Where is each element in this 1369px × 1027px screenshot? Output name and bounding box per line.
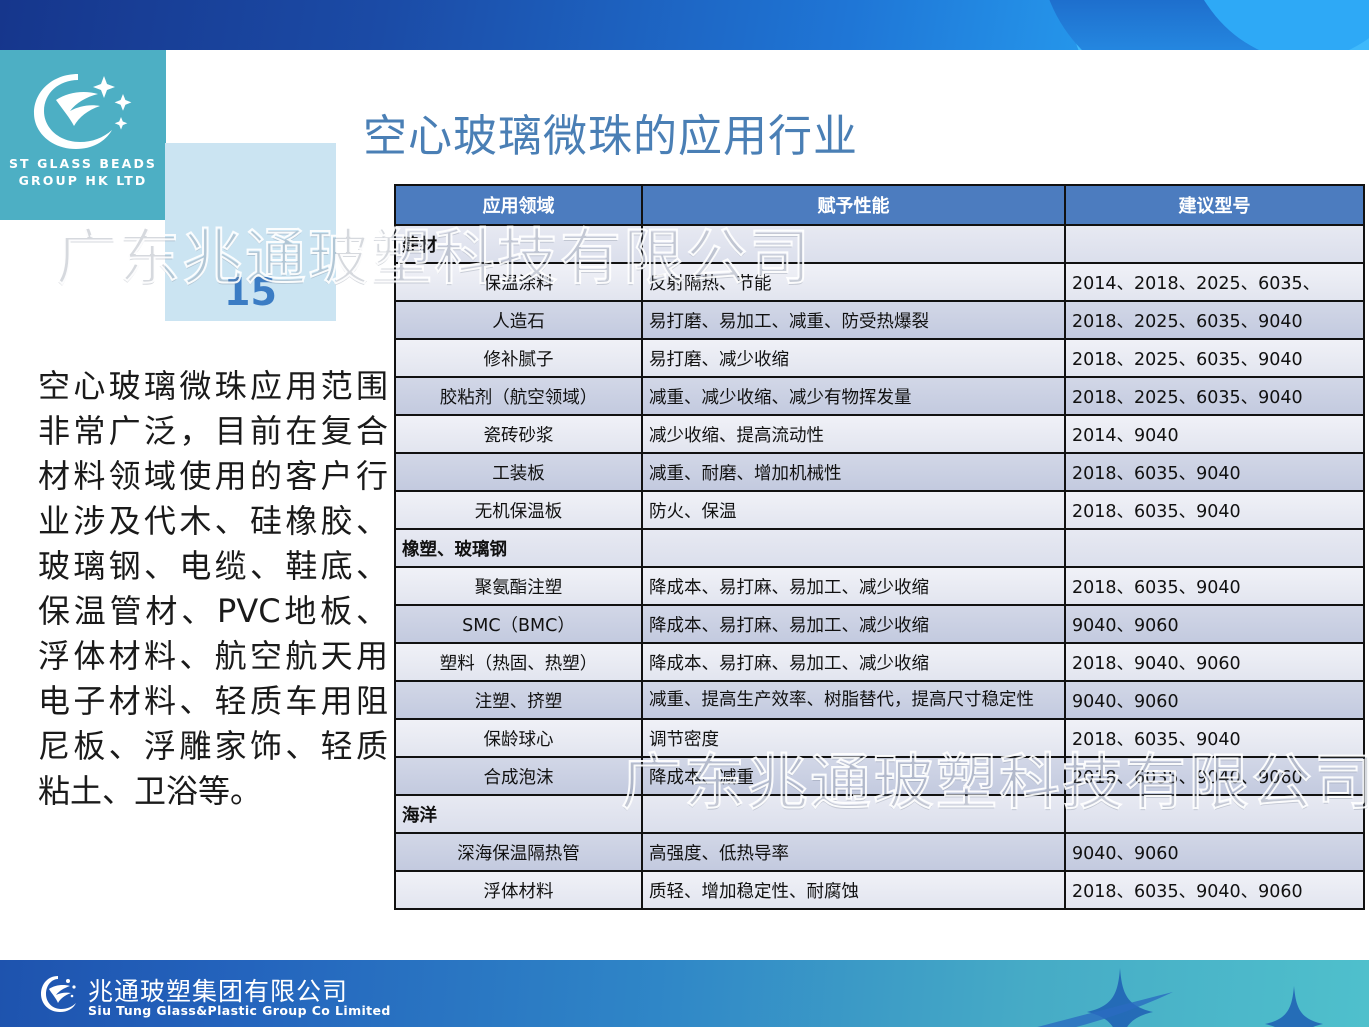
- cell-application-field: 浮体材料: [395, 871, 642, 909]
- group-label: 建材: [395, 225, 642, 263]
- cell-performance: 降成本、易打麻、易加工、减少收缩: [642, 605, 1065, 643]
- header-recommended-model: 建议型号: [1065, 185, 1364, 225]
- table-row: 浮体材料质轻、增加稳定性、耐腐蚀2018、6035、9040、9060: [395, 871, 1364, 909]
- footer-swoosh-icon: [955, 990, 1175, 1027]
- cell-recommended-model: 2018、6035、9040: [1065, 453, 1364, 491]
- cell-performance: 减少收缩、提高流动性: [642, 415, 1065, 453]
- table-group-row: 建材: [395, 225, 1364, 263]
- applications-table: 应用领域 赋予性能 建议型号 建材保温涂料反射隔热、节能2014、2018、20…: [394, 184, 1365, 910]
- cell-recommended-model: 9040、9060: [1065, 681, 1364, 719]
- cell-recommended-model: 2018、6035、9040: [1065, 491, 1364, 529]
- table-row: 深海保温隔热管高强度、低热导率9040、9060: [395, 833, 1364, 871]
- cell-application-field: 保温涂料: [395, 263, 642, 301]
- cell-recommended-model: 2018、6035、9040: [1065, 719, 1364, 757]
- cell-recommended-model: 2018、6035、9040: [1065, 567, 1364, 605]
- header-performance: 赋予性能: [642, 185, 1065, 225]
- cell-application-field: 聚氨酯注塑: [395, 567, 642, 605]
- table-row: SMC（BMC）降成本、易打麻、易加工、减少收缩9040、9060: [395, 605, 1364, 643]
- group-performance-cell: [642, 795, 1065, 833]
- cell-application-field: 胶粘剂（航空领域）: [395, 377, 642, 415]
- cell-recommended-model: 9040、9060: [1065, 833, 1364, 871]
- cell-performance: 调节密度: [642, 719, 1065, 757]
- group-performance-cell: [642, 529, 1065, 567]
- group-performance-cell: [642, 225, 1065, 263]
- table-row: 塑料（热固、热塑）降成本、易打麻、易加工、减少收缩2018、9040、9060: [395, 643, 1364, 681]
- cell-performance: 反射隔热、节能: [642, 263, 1065, 301]
- table-group-row: 橡塑、玻璃钢: [395, 529, 1364, 567]
- header-application-field: 应用领域: [395, 185, 642, 225]
- brand-logo-text: ST GLASS BEADS GROUP HK LTD: [0, 155, 166, 189]
- cell-application-field: 人造石: [395, 301, 642, 339]
- footer-sparkle-icon: [1255, 986, 1333, 1027]
- cell-performance: 降成本、易打麻、易加工、减少收缩: [642, 643, 1065, 681]
- group-model-cell: [1065, 529, 1364, 567]
- cell-performance: 防火、保温: [642, 491, 1065, 529]
- cell-recommended-model: 9040、9060: [1065, 605, 1364, 643]
- table-row: 修补腻子易打磨、减少收缩2018、2025、6035、9040: [395, 339, 1364, 377]
- cell-performance: 质轻、增加稳定性、耐腐蚀: [642, 871, 1065, 909]
- table-header-row: 应用领域 赋予性能 建议型号: [395, 185, 1364, 225]
- cell-performance: 减重、耐磨、增加机械性: [642, 453, 1065, 491]
- table-body: 建材保温涂料反射隔热、节能2014、2018、2025、6035、人造石易打磨、…: [395, 225, 1364, 909]
- brand-logo-line2: GROUP HK LTD: [0, 172, 166, 189]
- table-row: 工装板减重、耐磨、增加机械性2018、6035、9040: [395, 453, 1364, 491]
- footer-bar: 兆通玻塑集团有限公司 Siu Tung Glass&Plastic Group …: [0, 960, 1369, 1027]
- table-row: 瓷砖砂浆减少收缩、提高流动性2014、9040: [395, 415, 1364, 453]
- brand-logo-line1: ST GLASS BEADS: [0, 155, 166, 172]
- cell-recommended-model: 2018、2025、6035、9040: [1065, 301, 1364, 339]
- body-paragraph: 空心玻璃微珠应用范围非常广泛，目前在复合材料领域使用的客户行业涉及代木、硅橡胶、…: [38, 364, 388, 814]
- table-row: 注塑、挤塑减重、提高生产效率、树脂替代，提高尺寸稳定性9040、9060: [395, 681, 1364, 719]
- cell-performance: 减重、提高生产效率、树脂替代，提高尺寸稳定性: [642, 681, 1065, 719]
- cell-performance: 高强度、低热导率: [642, 833, 1065, 871]
- group-model-cell: [1065, 225, 1364, 263]
- cell-performance: 易打磨、减少收缩: [642, 339, 1065, 377]
- page-title: 空心玻璃微珠的应用行业: [363, 100, 1003, 164]
- table-row: 保龄球心调节密度2018、6035、9040: [395, 719, 1364, 757]
- cell-performance: 降成本、易打麻、易加工、减少收缩: [642, 567, 1065, 605]
- cell-application-field: 深海保温隔热管: [395, 833, 642, 871]
- cell-recommended-model: 2018、6035、9040、9060: [1065, 871, 1364, 909]
- cell-recommended-model: 2014、2018、2025、6035、: [1065, 263, 1364, 301]
- cell-recommended-model: 2018、2025、6035、9040: [1065, 377, 1364, 415]
- cell-performance: 减重、减少收缩、减少有物挥发量: [642, 377, 1065, 415]
- group-label: 橡塑、玻璃钢: [395, 529, 642, 567]
- cell-application-field: 合成泡沫: [395, 757, 642, 795]
- cell-application-field: 修补腻子: [395, 339, 642, 377]
- cell-application-field: 塑料（热固、热塑）: [395, 643, 642, 681]
- cell-application-field: 工装板: [395, 453, 642, 491]
- cell-recommended-model: 2014、9040: [1065, 415, 1364, 453]
- table-row: 保温涂料反射隔热、节能2014、2018、2025、6035、: [395, 263, 1364, 301]
- cell-application-field: 无机保温板: [395, 491, 642, 529]
- crescent-sparkle-logo-icon: [26, 70, 141, 152]
- group-label: 海洋: [395, 795, 642, 833]
- table-row: 聚氨酯注塑降成本、易打麻、易加工、减少收缩2018、6035、9040: [395, 567, 1364, 605]
- footer-crescent-sparkle-logo-icon: [38, 974, 80, 1014]
- cell-application-field: 瓷砖砂浆: [395, 415, 642, 453]
- table-row: 人造石易打磨、易加工、减重、防受热爆裂2018、2025、6035、9040: [395, 301, 1364, 339]
- table-row: 无机保温板防火、保温2018、6035、9040: [395, 491, 1364, 529]
- cell-recommended-model: 2018、2025、6035、9040: [1065, 339, 1364, 377]
- top-banner: [0, 0, 1369, 50]
- cell-recommended-model: 2018、9040、9060: [1065, 643, 1364, 681]
- cell-performance: 易打磨、易加工、减重、防受热爆裂: [642, 301, 1065, 339]
- cell-application-field: SMC（BMC）: [395, 605, 642, 643]
- table-row: 合成泡沫降成本、减重2018、6035、9040、9060: [395, 757, 1364, 795]
- group-model-cell: [1065, 795, 1364, 833]
- cell-application-field: 保龄球心: [395, 719, 642, 757]
- brand-logo-block: ST GLASS BEADS GROUP HK LTD: [0, 50, 166, 220]
- table-row: 胶粘剂（航空领域）减重、减少收缩、减少有物挥发量2018、2025、6035、9…: [395, 377, 1364, 415]
- cell-application-field: 注塑、挤塑: [395, 681, 642, 719]
- slide-number: 15: [165, 270, 336, 314]
- cell-recommended-model: 2018、6035、9040、9060: [1065, 757, 1364, 795]
- footer-company-en: Siu Tung Glass&Plastic Group Co Limited: [88, 1003, 391, 1018]
- cell-performance: 降成本、减重: [642, 757, 1065, 795]
- table-group-row: 海洋: [395, 795, 1364, 833]
